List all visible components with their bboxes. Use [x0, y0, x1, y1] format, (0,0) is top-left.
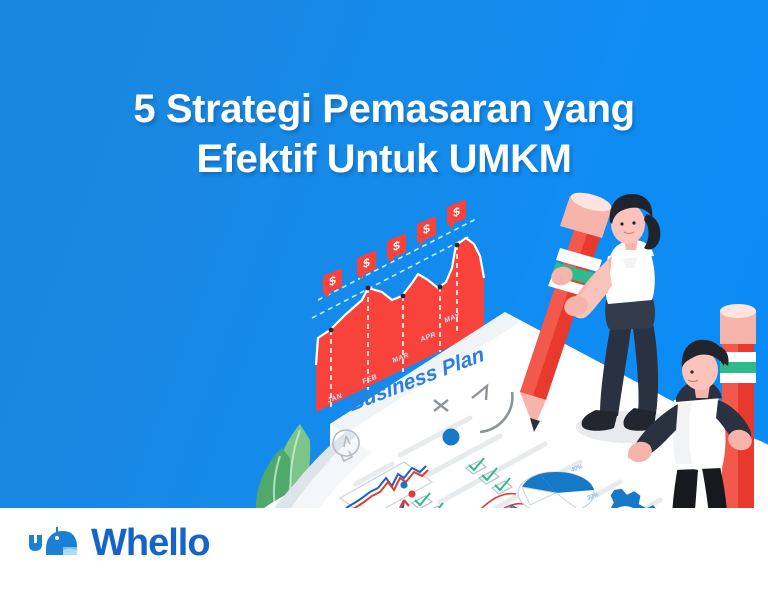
page-title-line-1: 5 Strategi Pemasaran yang [0, 84, 768, 134]
page-title: 5 Strategi Pemasaran yang Efektif Untuk … [0, 84, 768, 184]
big-blue-dot [443, 429, 460, 446]
brand-logo[interactable]: Whello [27, 524, 210, 562]
page-title-line-2: Efektif Untuk UMKM [0, 134, 768, 184]
legend-dot-red [408, 490, 415, 497]
brand-logo-text: Whello [91, 524, 210, 562]
whello-whale-icon [27, 525, 81, 561]
legend-dot-blue [400, 481, 407, 488]
banner-canvas: $ [0, 0, 768, 598]
